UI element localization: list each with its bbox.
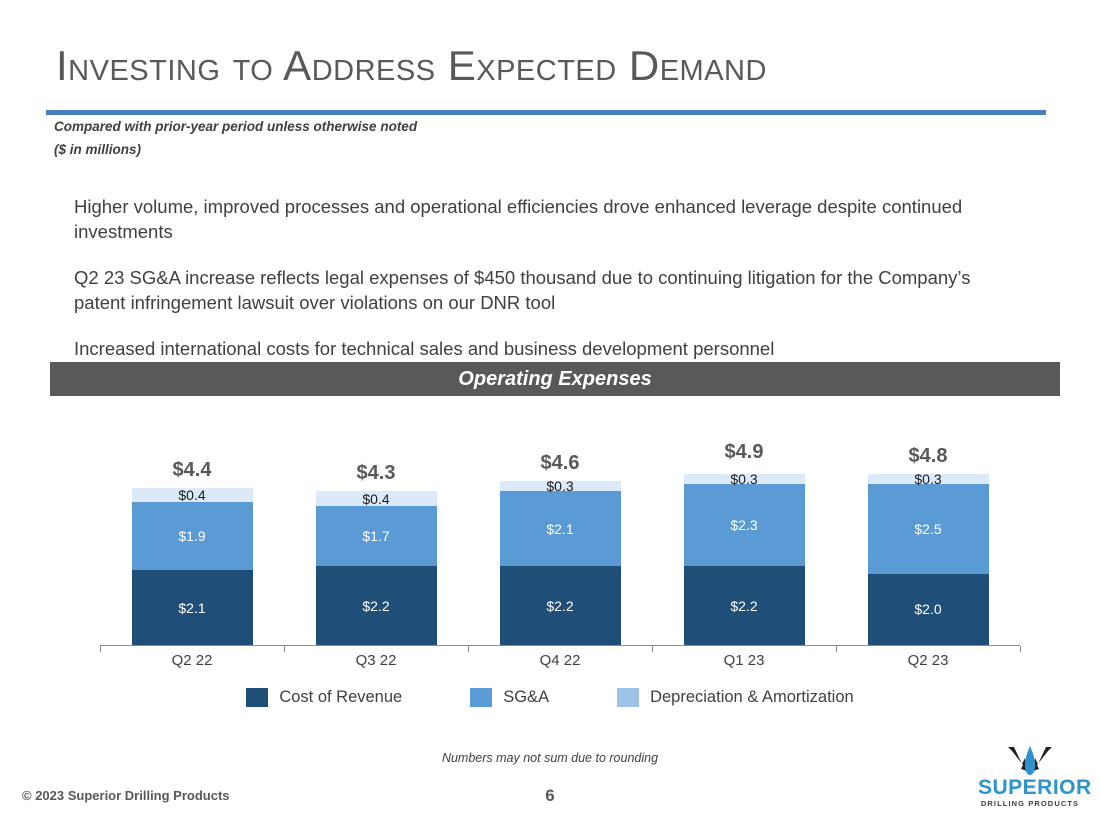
title-divider-rule (46, 110, 1046, 115)
bar-segment: $0.3 (868, 474, 989, 485)
bullet-item: Q2 23 SG&A increase reflects legal expen… (74, 265, 1010, 315)
bar-segment: $2.3 (684, 484, 805, 566)
x-axis-label: Q2 22 (100, 652, 284, 669)
x-axis-label: Q2 23 (836, 652, 1020, 669)
x-axis-tick (100, 646, 101, 652)
bar-stack: $0.3$2.3$2.2 (684, 474, 805, 645)
bar-segment: $2.2 (316, 566, 437, 645)
drill-bit-icon (978, 745, 1082, 779)
bar-segment-label: $2.2 (362, 598, 389, 614)
bullet-item: Higher volume, improved processes and op… (74, 194, 1010, 244)
subnote-comparison: Compared with prior-year period unless o… (54, 119, 417, 134)
logo-wordmark: SUPERIOR (978, 777, 1082, 798)
bar-segment-label: $1.9 (178, 528, 205, 544)
bar-total-label: $4.8 (868, 445, 989, 468)
legend-item[interactable]: Depreciation & Amortization (617, 688, 854, 707)
legend-item[interactable]: SG&A (470, 688, 549, 707)
bar-segment-label: $0.3 (914, 471, 941, 487)
company-logo: SUPERIOR DRILLING PRODUCTS (978, 745, 1082, 811)
bar-segment-label: $0.3 (730, 471, 757, 487)
bar-total-label: $4.6 (500, 452, 621, 475)
chart-legend: Cost of RevenueSG&ADepreciation & Amorti… (0, 688, 1100, 707)
bar-segment-label: $0.4 (178, 487, 205, 503)
bar-segment-label: $0.3 (546, 478, 573, 494)
bar-segment-label: $2.5 (914, 521, 941, 537)
chart-title-text: Operating Expenses (458, 368, 651, 391)
x-axis-tick (468, 646, 469, 652)
bar-segment: $2.1 (132, 570, 253, 645)
bar-segment: $1.9 (132, 502, 253, 570)
legend-label: SG&A (503, 688, 549, 707)
x-axis-tick (284, 646, 285, 652)
bar-group: $4.8$0.3$2.5$2.0 (868, 400, 989, 645)
bar-group: $4.3$0.4$1.7$2.2 (316, 400, 437, 645)
bar-stack: $0.3$2.5$2.0 (868, 474, 989, 645)
subnote-units: ($ in millions) (54, 142, 141, 157)
bar-segment: $2.0 (868, 574, 989, 645)
bar-segment-label: $2.0 (914, 601, 941, 617)
operating-expenses-chart: $4.4$0.4$1.9$2.1$4.3$0.4$1.7$2.2$4.6$0.3… (0, 400, 1100, 730)
bar-segment-label: $2.3 (730, 517, 757, 533)
bar-segment: $0.4 (132, 488, 253, 502)
bar-segment-label: $2.2 (546, 598, 573, 614)
x-axis-label: Q3 22 (284, 652, 468, 669)
bar-segment: $2.2 (684, 566, 805, 645)
legend-label: Depreciation & Amortization (650, 688, 854, 707)
bar-segment-label: $1.7 (362, 528, 389, 544)
bar-segment: $2.5 (868, 484, 989, 573)
bar-total-label: $4.9 (684, 441, 805, 464)
x-axis-label: Q4 22 (468, 652, 652, 669)
page-title: Investing to Address Expected Demand (56, 42, 767, 90)
chart-title-banner: Operating Expenses (50, 362, 1060, 396)
bar-total-label: $4.4 (132, 459, 253, 482)
bar-segment-label: $2.1 (178, 600, 205, 616)
x-axis-tick (836, 646, 837, 652)
bar-group: $4.4$0.4$1.9$2.1 (132, 400, 253, 645)
legend-swatch-icon (470, 688, 492, 707)
bar-group: $4.9$0.3$2.3$2.2 (684, 400, 805, 645)
x-axis-tick (652, 646, 653, 652)
legend-item[interactable]: Cost of Revenue (246, 688, 402, 707)
legend-swatch-icon (246, 688, 268, 707)
x-axis-label: Q1 23 (652, 652, 836, 669)
page-number: 6 (0, 786, 1100, 806)
bar-segment-label: $2.2 (730, 598, 757, 614)
bar-segment: $0.3 (500, 481, 621, 492)
bar-stack: $0.3$2.1$2.2 (500, 481, 621, 645)
legend-label: Cost of Revenue (279, 688, 402, 707)
bullet-item: Increased international costs for techni… (74, 336, 1010, 361)
bar-segment: $0.3 (684, 474, 805, 485)
x-axis-tick (1020, 646, 1021, 652)
bar-segment-label: $2.1 (546, 521, 573, 537)
bullet-list: Higher volume, improved processes and op… (74, 194, 1010, 382)
chart-plot-area: $4.4$0.4$1.9$2.1$4.3$0.4$1.7$2.2$4.6$0.3… (100, 400, 1020, 645)
bar-segment: $2.2 (500, 566, 621, 645)
logo-subtext: DRILLING PRODUCTS (978, 799, 1082, 808)
bar-segment: $0.4 (316, 491, 437, 505)
bar-total-label: $4.3 (316, 462, 437, 485)
bar-stack: $0.4$1.7$2.2 (316, 491, 437, 645)
bar-stack: $0.4$1.9$2.1 (132, 488, 253, 645)
bar-segment: $2.1 (500, 491, 621, 566)
x-axis-line (100, 645, 1020, 646)
bar-group: $4.6$0.3$2.1$2.2 (500, 400, 621, 645)
legend-swatch-icon (617, 688, 639, 707)
bar-segment: $1.7 (316, 506, 437, 567)
rounding-note: Numbers may not sum due to rounding (0, 751, 1100, 765)
bar-segment-label: $0.4 (362, 491, 389, 507)
